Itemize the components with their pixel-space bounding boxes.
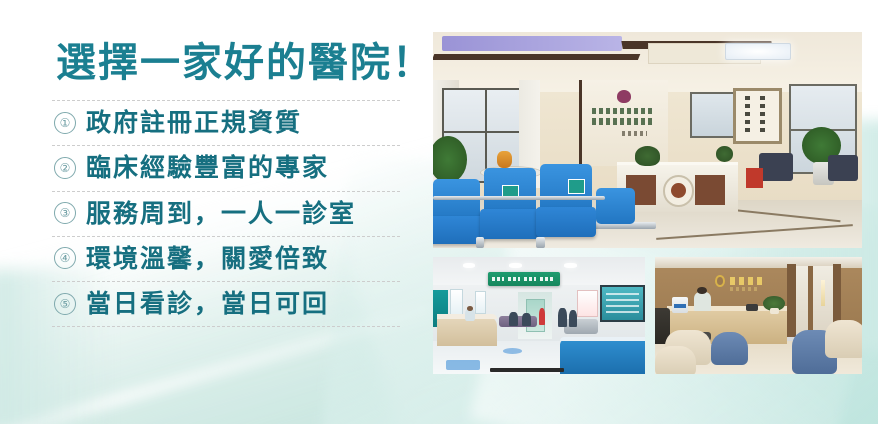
circled-number-icon: ⑤ (54, 293, 76, 315)
circled-number-icon: ④ (54, 247, 76, 269)
list-item: ④ 環境溫馨，關愛倍致 (52, 237, 400, 282)
photo-hospital-corridor (433, 257, 645, 374)
photo-collage (433, 32, 862, 374)
circled-number-icon: ③ (54, 202, 76, 224)
feature-list: ① 政府註冊正規資質 ② 臨床經驗豐富的專家 ③ 服務周到，一人一診室 ④ 環境… (52, 100, 400, 327)
list-item: ② 臨床經驗豐富的專家 (52, 146, 400, 191)
lobby-scene (433, 32, 862, 248)
hospital-promo-banner: 選擇一家好的醫院！ ① 政府註冊正規資質 ② 臨床經驗豐富的專家 ③ 服務周到，… (0, 0, 878, 424)
photo-hospital-lobby-reception (433, 32, 862, 248)
feature-text: 環境溫馨，關愛倍致 (86, 243, 329, 274)
corridor-scene (433, 257, 645, 374)
feature-text: 臨床經驗豐富的專家 (86, 152, 329, 183)
circled-number-icon: ① (54, 112, 76, 134)
text-column: 選擇一家好的醫院！ ① 政府註冊正規資質 ② 臨床經驗豐富的專家 ③ 服務周到，… (52, 40, 412, 327)
list-item: ① 政府註冊正規資質 (52, 100, 400, 146)
list-item: ③ 服務周到，一人一診室 (52, 192, 400, 237)
list-item: ⑤ 當日看診，當日可回 (52, 282, 400, 327)
feature-text: 服務周到，一人一診室 (86, 198, 356, 229)
photo-nurse-station (655, 257, 862, 374)
feature-text: 政府註冊正規資質 (86, 107, 302, 138)
feature-text: 當日看診，當日可回 (86, 288, 329, 319)
nurse-station-scene (655, 257, 862, 374)
page-title: 選擇一家好的醫院！ (56, 40, 412, 86)
circled-number-icon: ② (54, 157, 76, 179)
